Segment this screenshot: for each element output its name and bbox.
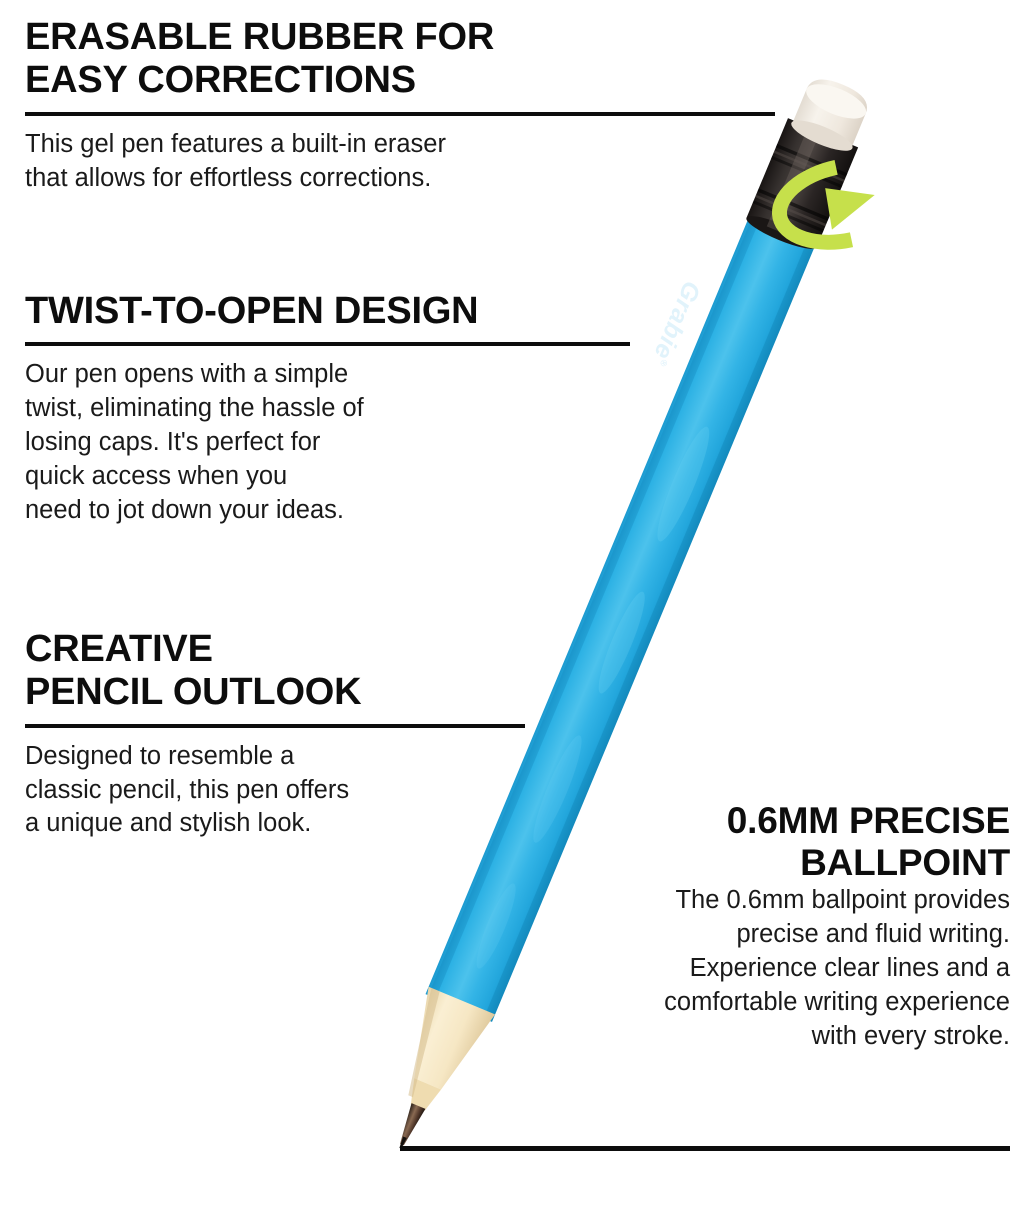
feature-erasable-rubber: ERASABLE RUBBER FOR EASY CORRECTIONS Thi… xyxy=(25,16,775,195)
feature-twist-to-open: TWIST-TO-OPEN DESIGN Our pen opens with … xyxy=(25,290,630,528)
feature-ballpoint: 0.6MM PRECISE BALLPOINT The 0.6mm ballpo… xyxy=(500,800,1010,1054)
divider-rule-pencil-outlook xyxy=(25,724,525,728)
feature-heading-pencil-outlook: CREATIVE PENCIL OUTLOOK xyxy=(25,628,525,715)
infographic-page: Grabie® ERASABLE RUBBER FOR EASY CORRECT… xyxy=(0,0,1024,1229)
brand-imprint: Grabie® xyxy=(644,277,706,371)
divider-rule-erasable-rubber xyxy=(25,112,775,116)
pen-tip-cone xyxy=(384,987,495,1122)
divider-rule-bottom xyxy=(400,1146,1010,1151)
feature-body-ballpoint: The 0.6mm ballpoint provides precise and… xyxy=(500,884,1010,1054)
feature-pencil-outlook: CREATIVE PENCIL OUTLOOK Designed to rese… xyxy=(25,628,525,841)
feature-body-twist-to-open: Our pen opens with a simple twist, elimi… xyxy=(25,358,545,528)
feature-body-erasable-rubber: This gel pen features a built-in eraser … xyxy=(25,128,645,196)
brand-name: Grabie xyxy=(648,277,706,364)
divider-rule-twist-to-open xyxy=(25,342,630,346)
feature-heading-twist-to-open: TWIST-TO-OPEN DESIGN xyxy=(25,290,630,333)
feature-heading-erasable-rubber: ERASABLE RUBBER FOR EASY CORRECTIONS xyxy=(25,16,775,103)
feature-heading-ballpoint: 0.6MM PRECISE BALLPOINT xyxy=(500,800,1010,884)
pen-eraser xyxy=(788,72,874,156)
ballpoint-tip xyxy=(394,1103,426,1151)
feature-body-pencil-outlook: Designed to resemble a classic pencil, t… xyxy=(25,740,495,842)
